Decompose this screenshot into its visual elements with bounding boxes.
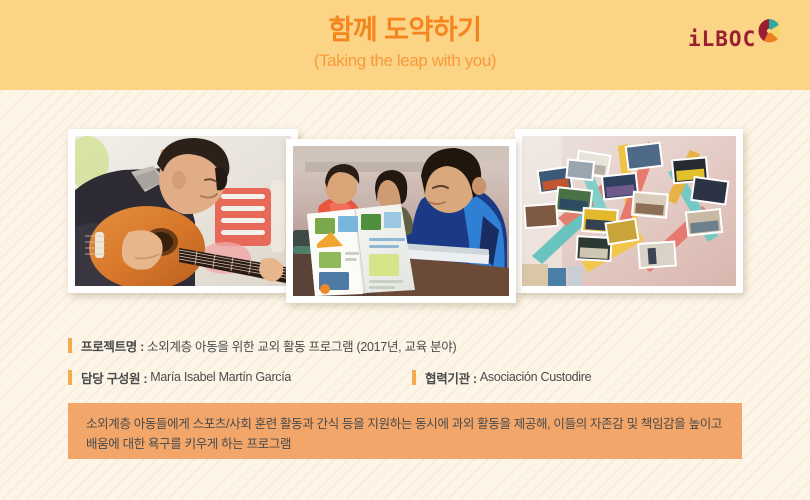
member-label: 담당 구성원 : <box>81 368 147 387</box>
info-row-partner: 협력기관 : Asociación Custodire <box>412 368 591 386</box>
slide-page: 함께 도약하기 (Taking the leap with you) iLBOC <box>0 0 810 500</box>
photo-wall-photo-collage <box>515 129 743 293</box>
project-value: 소외계층 아동을 위한 교외 활동 프로그램 (2017년, 교육 분야) <box>147 336 456 355</box>
partner-label: 협력기관 : <box>425 368 477 387</box>
member-value: María Isabel Martín García <box>150 370 291 384</box>
photo-children-studying-classroom: DIE <box>286 139 516 303</box>
ilboc-logo: iLBOC <box>688 16 784 58</box>
description-box: 소외계층 아동들에게 스포츠/사회 훈련 활동과 간식 등을 지원하는 동시에 … <box>68 403 742 459</box>
info-row-member: 담당 구성원 : María Isabel Martín García <box>68 368 291 386</box>
logo-wordmark: iLBOC <box>688 27 756 51</box>
info-row-project: 프로젝트명 : 소외계층 아동을 위한 교외 활동 프로그램 (2017년, 교… <box>68 336 456 354</box>
pinwheel-logo-mark-icon <box>754 16 784 46</box>
accent-bar-icon <box>68 370 72 385</box>
accent-bar-icon <box>412 370 416 385</box>
project-label: 프로젝트명 : <box>81 336 144 355</box>
partner-value: Asociación Custodire <box>480 370 591 384</box>
photo-boy-playing-guitar <box>68 129 298 293</box>
accent-bar-icon <box>68 338 72 353</box>
header-banner: 함께 도약하기 (Taking the leap with you) iLBOC <box>0 0 810 90</box>
description-text: 소외계층 아동들에게 스포츠/사회 훈련 활동과 간식 등을 지원하는 동시에 … <box>86 414 724 454</box>
